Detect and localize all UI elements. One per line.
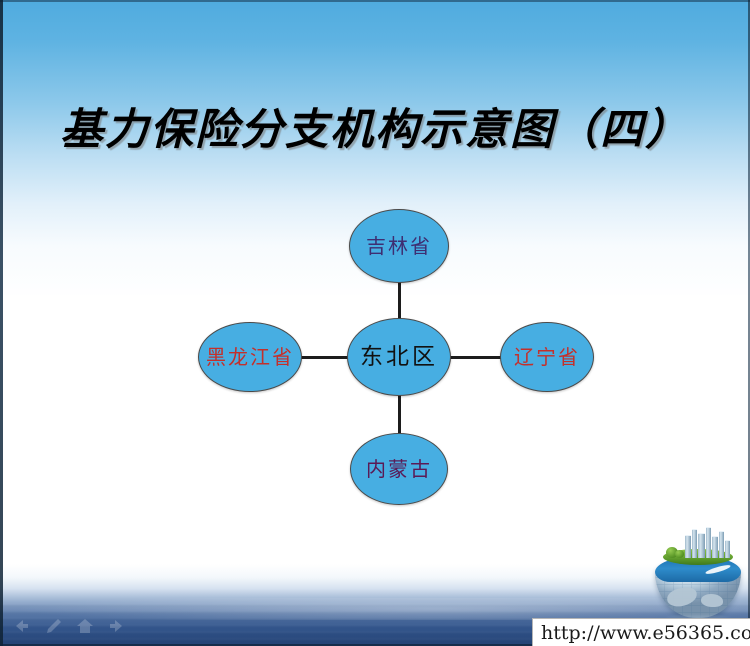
slideshow-nav-bar[interactable]: [12, 618, 126, 634]
org-chart-diagram: 吉林省 黑龙江省 东北区 辽宁省 内蒙古: [0, 0, 750, 646]
city-skyline-icon: [663, 528, 733, 558]
node-inner-mongolia[interactable]: 内蒙古: [350, 433, 448, 505]
node-label-northeast-region: 东北区: [360, 346, 438, 368]
node-jilin[interactable]: 吉林省: [349, 209, 449, 283]
back-arrow-icon[interactable]: [12, 618, 30, 634]
node-label-heilongjiang: 黑龙江省: [206, 346, 294, 368]
globe-city-logo: [651, 528, 745, 620]
node-label-jilin: 吉林省: [366, 235, 432, 257]
node-heilongjiang[interactable]: 黑龙江省: [198, 322, 302, 392]
node-label-inner-mongolia: 内蒙古: [366, 458, 432, 480]
forward-arrow-icon[interactable]: [108, 618, 126, 634]
website-url-text: http://www.e56365.com: [541, 622, 750, 644]
node-northeast-region[interactable]: 东北区: [347, 318, 451, 396]
node-label-liaoning: 辽宁省: [514, 346, 580, 368]
website-url-box[interactable]: http://www.e56365.com: [532, 618, 750, 646]
slide-canvas: 基力保险分支机构示意图（四） 吉林省 黑龙江省 东北区 辽宁省 内蒙古: [0, 0, 750, 646]
pen-icon[interactable]: [44, 618, 62, 634]
node-liaoning[interactable]: 辽宁省: [500, 322, 594, 392]
home-icon[interactable]: [76, 618, 94, 634]
globe-sphere-icon: [655, 556, 741, 618]
globe-landmass-icon: [701, 594, 723, 607]
